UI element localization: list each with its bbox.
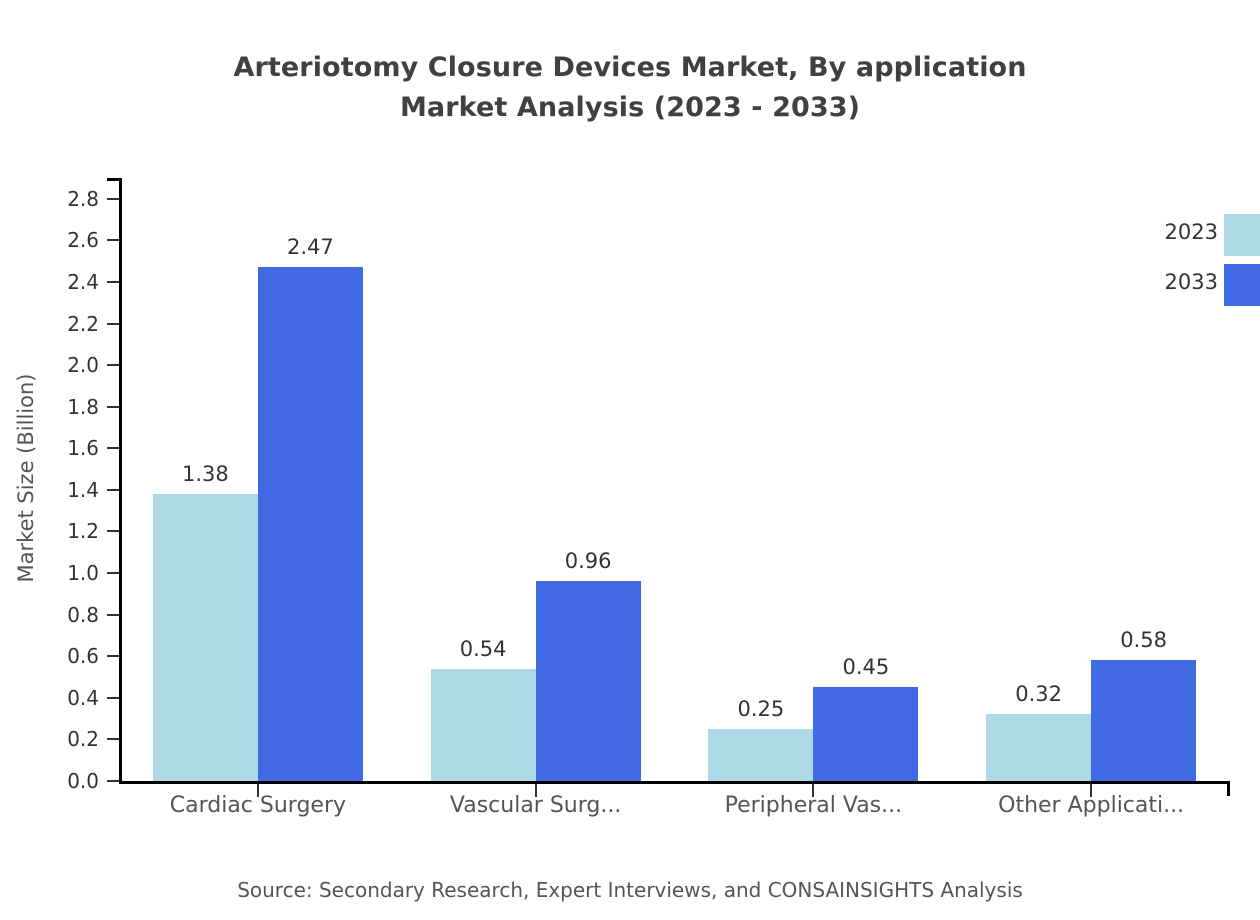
y-tick-mark xyxy=(107,198,119,200)
y-tick-mark xyxy=(107,489,119,491)
y-tick-mark xyxy=(107,572,119,574)
y-tick-label: 1.4 xyxy=(0,477,99,503)
legend-item-2033[interactable]: 2033 xyxy=(1130,264,1260,308)
legend-label: 2033 xyxy=(1130,270,1218,294)
y-tick-label: 2.0 xyxy=(0,352,99,378)
x-axis-category-label: Cardiac Surgery xyxy=(98,793,418,818)
y-tick-label: 1.2 xyxy=(0,518,99,544)
y-tick-mark xyxy=(107,406,119,408)
y-tick-label: 1.0 xyxy=(0,560,99,586)
y-tick-mark xyxy=(107,530,119,532)
bar-value-label: 0.45 xyxy=(813,655,918,679)
y-tick-mark xyxy=(107,239,119,241)
y-tick-mark xyxy=(107,655,119,657)
y-axis-line xyxy=(119,178,122,784)
source-note: Source: Secondary Research, Expert Inter… xyxy=(0,878,1260,902)
bar-value-label: 0.25 xyxy=(708,697,813,721)
y-tick-label: 2.6 xyxy=(0,227,99,253)
bar-2023-vascular-surg[interactable] xyxy=(431,669,536,781)
y-tick-mark xyxy=(107,697,119,699)
bar-value-label: 1.38 xyxy=(153,462,258,486)
y-tick-mark xyxy=(107,780,119,782)
bar-value-label: 0.58 xyxy=(1091,628,1196,652)
bar-2023-other-applicati[interactable] xyxy=(986,714,1091,781)
legend-item-2023[interactable]: 2023 xyxy=(1130,214,1260,258)
bar-value-label: 2.47 xyxy=(258,235,363,259)
chart-title-line-2: Market Analysis (2023 - 2033) xyxy=(0,88,1260,128)
bar-2033-other-applicati[interactable] xyxy=(1091,660,1196,781)
bar-value-label: 0.96 xyxy=(536,549,641,573)
x-axis-category-label: Other Applicati... xyxy=(931,793,1251,818)
chart-title: Arteriotomy Closure Devices Market, By a… xyxy=(0,48,1260,128)
x-axis-category-label: Vascular Surg... xyxy=(376,793,696,818)
legend-label: 2023 xyxy=(1130,220,1218,244)
y-tick-mark xyxy=(107,323,119,325)
bar-2023-cardiac-surgery[interactable] xyxy=(153,494,258,781)
x-axis-line xyxy=(119,781,1230,784)
legend-color-swatch xyxy=(1224,214,1260,256)
y-tick-label: 1.8 xyxy=(0,394,99,420)
x-axis-category-label: Peripheral Vas... xyxy=(653,793,973,818)
legend: 20232033 xyxy=(1130,214,1260,304)
bar-2033-vascular-surg[interactable] xyxy=(536,581,641,781)
y-tick-label: 2.8 xyxy=(0,186,99,212)
y-tick-label: 0.2 xyxy=(0,726,99,752)
bar-2033-cardiac-surgery[interactable] xyxy=(258,267,363,781)
y-tick-mark xyxy=(107,364,119,366)
y-tick-mark xyxy=(107,738,119,740)
legend-color-swatch xyxy=(1224,264,1260,306)
y-tick-mark xyxy=(107,614,119,616)
chart-title-line-1: Arteriotomy Closure Devices Market, By a… xyxy=(0,48,1260,88)
bar-value-label: 0.54 xyxy=(431,637,536,661)
bar-2033-peripheral-vas[interactable] xyxy=(813,687,918,781)
y-tick-label: 0.0 xyxy=(0,768,99,794)
y-tick-mark xyxy=(107,447,119,449)
y-tick-label: 1.6 xyxy=(0,435,99,461)
y-tick-label: 0.6 xyxy=(0,643,99,669)
bar-2023-peripheral-vas[interactable] xyxy=(708,729,813,781)
y-tick-mark xyxy=(107,281,119,283)
y-axis-top-cap xyxy=(107,178,122,181)
y-tick-label: 2.2 xyxy=(0,311,99,337)
y-tick-label: 0.8 xyxy=(0,602,99,628)
bar-value-label: 0.32 xyxy=(986,682,1091,706)
y-tick-label: 0.4 xyxy=(0,685,99,711)
y-tick-label: 2.4 xyxy=(0,269,99,295)
